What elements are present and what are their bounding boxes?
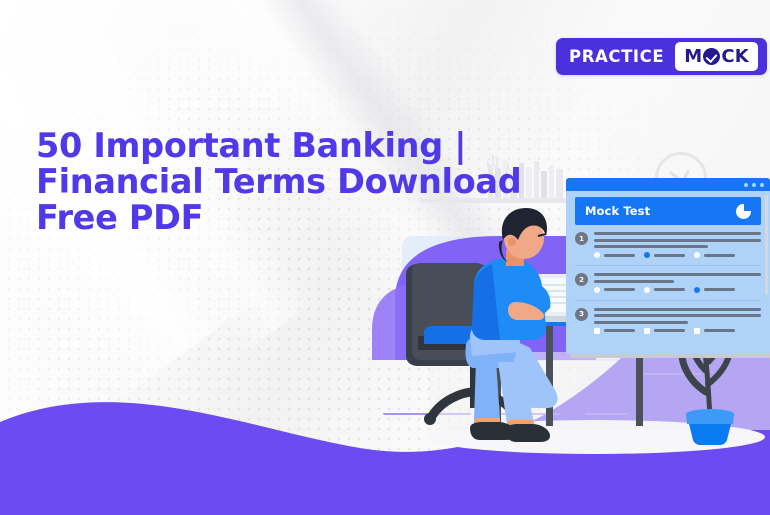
window-dot-icon xyxy=(752,183,756,187)
logo-mock-box: M CK xyxy=(675,42,758,71)
answer-option[interactable] xyxy=(694,287,735,293)
option-text-line xyxy=(604,329,635,332)
mock-test-header: Mock Test xyxy=(575,197,761,225)
answer-option[interactable] xyxy=(594,252,635,258)
checkbox-icon[interactable] xyxy=(644,328,650,334)
radio-icon[interactable] xyxy=(644,287,650,293)
question-number-badge: 1 xyxy=(575,232,588,245)
logo-mock-ck: CK xyxy=(721,48,749,66)
mock-test-window[interactable]: Mock Test 1 2 xyxy=(566,178,770,358)
question-text-lines xyxy=(594,308,761,324)
mock-test-title: Mock Test xyxy=(585,204,650,218)
question-row[interactable]: 3 xyxy=(575,308,761,334)
logo-mock-m: M xyxy=(684,48,702,66)
question-row[interactable]: 2 xyxy=(575,273,761,293)
window-scrollbar[interactable] xyxy=(765,195,768,295)
answer-option[interactable] xyxy=(594,328,635,334)
answer-option[interactable] xyxy=(644,252,685,258)
answer-option[interactable] xyxy=(644,328,685,334)
radio-icon[interactable] xyxy=(694,252,700,258)
answer-option[interactable] xyxy=(644,287,685,293)
answer-options[interactable] xyxy=(594,328,761,334)
question-divider xyxy=(575,265,761,266)
option-text-line xyxy=(654,254,685,257)
question-row[interactable]: 1 xyxy=(575,232,761,258)
question-number-badge: 3 xyxy=(575,308,588,321)
check-circle-icon xyxy=(703,48,720,65)
answer-option[interactable] xyxy=(594,287,635,293)
option-text-line xyxy=(704,329,735,332)
window-dot-icon xyxy=(744,183,748,187)
option-text-line xyxy=(704,254,735,257)
pie-chart-icon xyxy=(736,204,751,219)
option-text-line xyxy=(604,254,635,257)
page-title: 50 Important Banking | Financial Terms D… xyxy=(36,128,556,236)
question-number-badge: 2 xyxy=(575,273,588,286)
radio-selected-icon[interactable] xyxy=(644,252,650,258)
window-title-bar[interactable] xyxy=(566,178,770,191)
window-dot-icon xyxy=(760,183,764,187)
poster-canvas: Mock Test 1 2 xyxy=(0,0,770,515)
radio-selected-icon[interactable] xyxy=(694,287,700,293)
question-text-lines xyxy=(594,273,761,283)
window-body: Mock Test 1 2 xyxy=(566,178,770,354)
answer-option[interactable] xyxy=(694,252,735,258)
answer-options[interactable] xyxy=(594,287,761,293)
radio-icon[interactable] xyxy=(594,252,600,258)
radio-icon[interactable] xyxy=(594,287,600,293)
question-text-lines xyxy=(594,232,761,248)
checkbox-icon[interactable] xyxy=(694,328,700,334)
logo-practice-text: PRACTICE xyxy=(556,47,675,66)
option-text-line xyxy=(704,288,735,291)
option-text-line xyxy=(654,329,685,332)
answer-options[interactable] xyxy=(594,252,761,258)
question-divider xyxy=(575,300,761,301)
option-text-line xyxy=(654,288,685,291)
checkbox-icon[interactable] xyxy=(594,328,600,334)
practicemock-logo[interactable]: PRACTICE M CK xyxy=(556,38,767,75)
answer-option[interactable] xyxy=(694,328,735,334)
option-text-line xyxy=(604,288,635,291)
